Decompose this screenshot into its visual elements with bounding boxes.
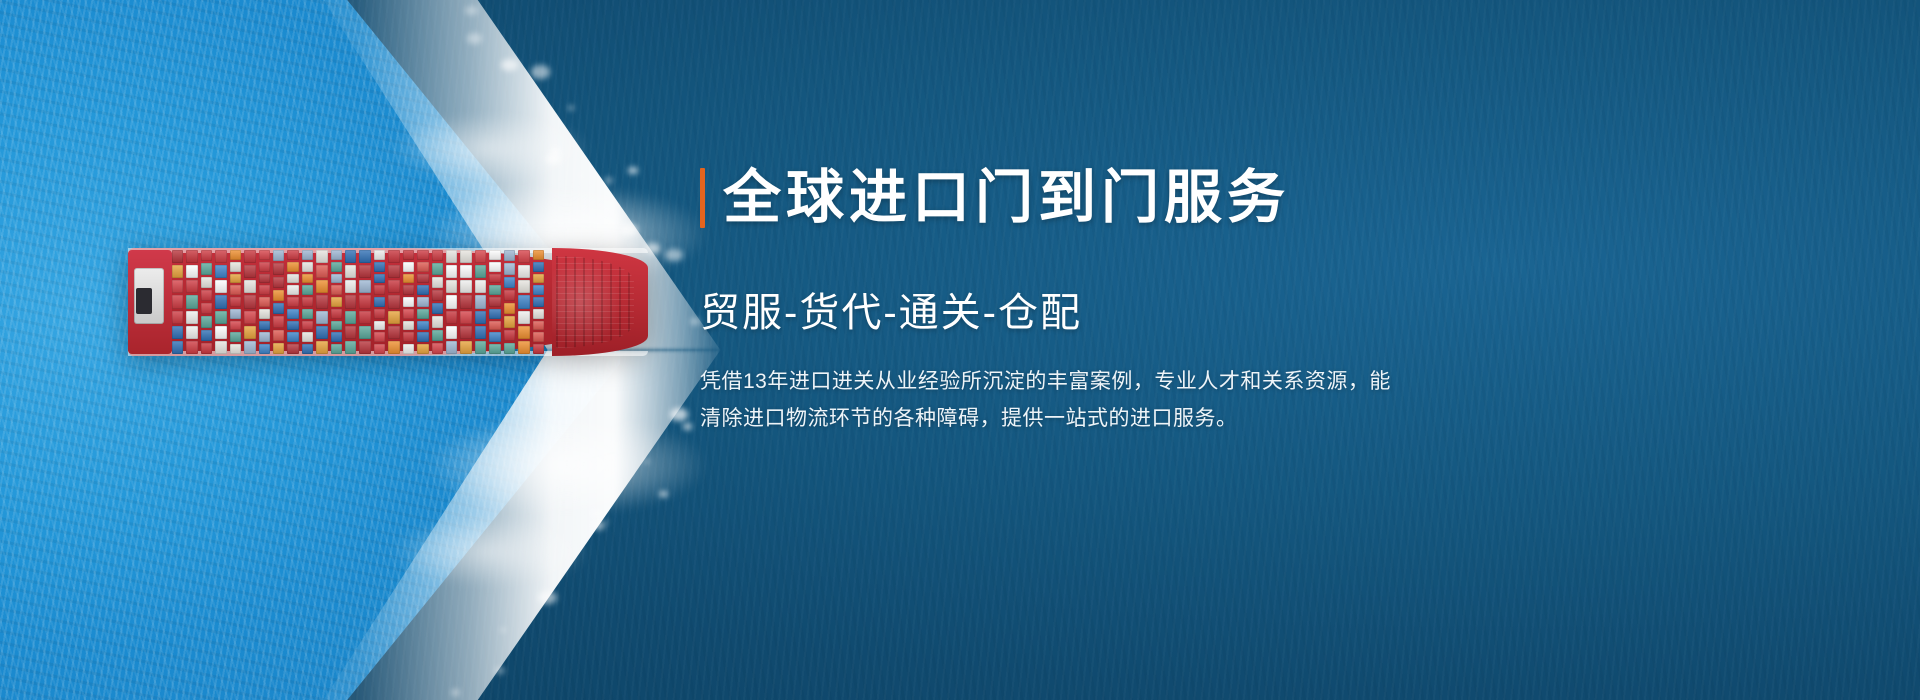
shipping-container — [316, 280, 327, 293]
shipping-container — [359, 326, 370, 339]
shipping-container — [489, 332, 500, 342]
accent-bar-icon — [700, 168, 705, 228]
banner-content: 全球进口门到门服务 贸服-货代-通关-仓配 凭借13年进口进关从业经验所沉淀的丰… — [700, 168, 1460, 438]
shipping-container — [259, 274, 270, 284]
shipping-container — [446, 341, 457, 354]
shipping-container — [259, 344, 270, 354]
shipping-container — [230, 250, 241, 260]
container-bay — [259, 250, 270, 354]
shipping-container — [460, 311, 471, 324]
shipping-container — [446, 326, 457, 339]
container-bay — [446, 250, 457, 354]
shipping-container — [186, 311, 197, 324]
shipping-container — [489, 309, 500, 319]
shipping-container — [374, 274, 385, 284]
container-bay — [201, 250, 212, 354]
shipping-container — [359, 265, 370, 278]
container-bay — [388, 250, 399, 354]
shipping-container — [417, 250, 428, 260]
shipping-container — [533, 297, 544, 307]
shipping-container — [230, 285, 241, 295]
shipping-container — [186, 250, 197, 263]
shipping-container — [302, 262, 313, 272]
shipping-container — [388, 250, 399, 263]
shipping-container — [374, 321, 385, 331]
shipping-container — [259, 321, 270, 331]
shipping-container — [186, 341, 197, 354]
shipping-container — [201, 263, 212, 274]
shipping-container — [316, 250, 327, 263]
shipping-container — [244, 326, 255, 339]
shipping-container — [273, 330, 284, 341]
shipping-container — [331, 332, 342, 342]
container-bay — [432, 250, 443, 354]
shipping-container — [432, 277, 443, 288]
shipping-container — [172, 341, 183, 354]
shipping-container — [316, 341, 327, 354]
shipping-container — [446, 295, 457, 308]
container-bay — [172, 250, 183, 354]
shipping-container — [259, 262, 270, 272]
shipping-container — [504, 250, 515, 261]
container-bay — [518, 250, 529, 354]
container-bay — [403, 250, 414, 354]
shipping-container — [504, 290, 515, 301]
shipping-container — [417, 344, 428, 354]
shipping-container — [230, 309, 241, 319]
shipping-container — [533, 285, 544, 295]
shipping-container — [201, 290, 212, 301]
shipping-container — [273, 343, 284, 354]
container-bay — [345, 250, 356, 354]
container-bay — [302, 250, 313, 354]
container-bay — [287, 250, 298, 354]
shipping-container — [201, 303, 212, 314]
shipping-container — [302, 344, 313, 354]
shipping-container — [432, 316, 443, 327]
shipping-container — [172, 265, 183, 278]
shipping-container — [259, 309, 270, 319]
ship-bow — [552, 248, 648, 356]
shipping-container — [403, 309, 414, 319]
container-bay — [186, 250, 197, 354]
shipping-container — [259, 297, 270, 307]
shipping-container — [359, 341, 370, 354]
shipping-container — [475, 326, 486, 339]
shipping-container — [432, 343, 443, 354]
shipping-container — [432, 303, 443, 314]
shipping-container — [230, 262, 241, 272]
shipping-container — [489, 321, 500, 331]
shipping-container — [230, 274, 241, 284]
shipping-container — [460, 250, 471, 263]
shipping-container — [186, 280, 197, 293]
shipping-container — [374, 297, 385, 307]
shipping-container — [302, 250, 313, 260]
shipping-container — [359, 311, 370, 324]
shipping-container — [417, 309, 428, 319]
shipping-container — [186, 326, 197, 339]
shipping-container — [489, 262, 500, 272]
shipping-container — [287, 344, 298, 354]
shipping-container — [331, 344, 342, 354]
shipping-container — [302, 297, 313, 307]
container-bay — [215, 250, 226, 354]
shipping-container — [201, 250, 212, 261]
shipping-container — [287, 332, 298, 342]
shipping-container — [172, 311, 183, 324]
container-bay — [273, 250, 284, 354]
container-ship — [128, 248, 648, 356]
shipping-container — [273, 250, 284, 261]
shipping-container — [460, 341, 471, 354]
shipping-container — [316, 265, 327, 278]
banner-subtitle: 贸服-货代-通关-仓配 — [700, 280, 1460, 338]
shipping-container — [331, 285, 342, 295]
shipping-container — [345, 280, 356, 293]
shipping-container — [316, 326, 327, 339]
container-bay — [230, 250, 241, 354]
container-bay — [489, 250, 500, 354]
container-stacks — [172, 250, 544, 354]
shipping-container — [475, 265, 486, 278]
shipping-container — [215, 280, 226, 293]
shipping-container — [244, 295, 255, 308]
shipping-container — [489, 250, 500, 260]
shipping-container — [331, 309, 342, 319]
shipping-container — [259, 332, 270, 342]
shipping-container — [374, 344, 385, 354]
shipping-container — [259, 250, 270, 260]
shipping-container — [172, 250, 183, 263]
shipping-container — [316, 295, 327, 308]
shipping-container — [374, 262, 385, 272]
shipping-container — [417, 274, 428, 284]
container-bay — [359, 250, 370, 354]
shipping-container — [244, 280, 255, 293]
container-bay — [533, 250, 544, 354]
shipping-container — [432, 290, 443, 301]
shipping-container — [287, 321, 298, 331]
shipping-container — [504, 330, 515, 341]
container-bay — [417, 250, 428, 354]
shipping-container — [345, 341, 356, 354]
shipping-container — [417, 285, 428, 295]
shipping-container — [201, 343, 212, 354]
shipping-container — [475, 250, 486, 263]
shipping-container — [302, 321, 313, 331]
shipping-container — [518, 326, 529, 339]
shipping-container — [374, 250, 385, 260]
headline-row: 全球进口门到门服务 — [700, 168, 1460, 228]
shipping-container — [504, 303, 515, 314]
shipping-container — [345, 265, 356, 278]
shipping-container — [518, 341, 529, 354]
shipping-container — [489, 344, 500, 354]
shipping-container — [388, 341, 399, 354]
shipping-container — [460, 265, 471, 278]
shipping-container — [172, 280, 183, 293]
shipping-container — [287, 285, 298, 295]
shipping-container — [345, 250, 356, 263]
shipping-container — [230, 297, 241, 307]
shipping-container — [388, 326, 399, 339]
shipping-container — [273, 303, 284, 314]
container-bay — [504, 250, 515, 354]
shipping-container — [331, 321, 342, 331]
shipping-container — [374, 309, 385, 319]
shipping-container — [504, 277, 515, 288]
shipping-container — [172, 295, 183, 308]
shipping-container — [475, 280, 486, 293]
shipping-container — [345, 311, 356, 324]
shipping-container — [417, 321, 428, 331]
shipping-container — [273, 277, 284, 288]
shipping-container — [331, 250, 342, 260]
shipping-container — [331, 274, 342, 284]
shipping-container — [345, 295, 356, 308]
shipping-container — [273, 263, 284, 274]
shipping-container — [460, 295, 471, 308]
shipping-container — [533, 309, 544, 319]
shipping-container — [230, 321, 241, 331]
shipping-container — [215, 326, 226, 339]
hero-banner: 全球进口门到门服务 贸服-货代-通关-仓配 凭借13年进口进关从业经验所沉淀的丰… — [0, 0, 1920, 700]
shipping-container — [417, 332, 428, 342]
container-bay — [316, 250, 327, 354]
shipping-container — [273, 290, 284, 301]
shipping-container — [489, 285, 500, 295]
shipping-container — [244, 341, 255, 354]
shipping-container — [287, 297, 298, 307]
shipping-container — [201, 330, 212, 341]
shipping-container — [518, 280, 529, 293]
shipping-container — [446, 311, 457, 324]
shipping-container — [533, 262, 544, 272]
shipping-container — [417, 262, 428, 272]
shipping-container — [201, 277, 212, 288]
shipping-container — [302, 285, 313, 295]
shipping-container — [230, 344, 241, 354]
shipping-container — [273, 316, 284, 327]
shipping-container — [460, 280, 471, 293]
container-bay — [374, 250, 385, 354]
shipping-container — [489, 274, 500, 284]
shipping-container — [518, 265, 529, 278]
shipping-container — [504, 263, 515, 274]
container-bay — [331, 250, 342, 354]
shipping-container — [316, 311, 327, 324]
shipping-container — [403, 297, 414, 307]
shipping-container — [302, 309, 313, 319]
shipping-container — [533, 274, 544, 284]
shipping-container — [359, 250, 370, 263]
shipping-container — [331, 297, 342, 307]
shipping-container — [518, 295, 529, 308]
shipping-container — [287, 250, 298, 260]
shipping-container — [504, 343, 515, 354]
shipping-container — [403, 344, 414, 354]
container-bay — [244, 250, 255, 354]
shipping-container — [215, 295, 226, 308]
shipping-container — [388, 295, 399, 308]
shipping-container — [287, 309, 298, 319]
shipping-container — [287, 274, 298, 284]
shipping-container — [215, 341, 226, 354]
shipping-container — [186, 295, 197, 308]
shipping-container — [446, 265, 457, 278]
shipping-container — [518, 311, 529, 324]
shipping-container — [215, 311, 226, 324]
shipping-container — [432, 263, 443, 274]
page-title: 全球进口门到门服务 — [723, 168, 1290, 228]
shipping-container — [460, 326, 471, 339]
shipping-container — [403, 274, 414, 284]
shipping-container — [446, 280, 457, 293]
shipping-container — [403, 250, 414, 260]
shipping-container — [403, 262, 414, 272]
shipping-container — [403, 285, 414, 295]
shipping-container — [345, 326, 356, 339]
shipping-container — [215, 250, 226, 263]
shipping-container — [374, 285, 385, 295]
shipping-container — [504, 316, 515, 327]
shipping-container — [388, 265, 399, 278]
shipping-container — [359, 295, 370, 308]
shipping-container — [302, 274, 313, 284]
shipping-container — [359, 280, 370, 293]
shipping-container — [374, 332, 385, 342]
shipping-container — [215, 265, 226, 278]
shipping-container — [475, 295, 486, 308]
shipping-container — [533, 250, 544, 260]
shipping-container — [388, 280, 399, 293]
shipping-container — [244, 265, 255, 278]
shipping-container — [230, 332, 241, 342]
container-bay — [475, 250, 486, 354]
shipping-container — [533, 332, 544, 342]
shipping-container — [489, 297, 500, 307]
banner-description: 凭借13年进口进关从业经验所沉淀的丰富案例，专业人才和关系资源，能清除进口物流环… — [700, 364, 1400, 438]
shipping-container — [475, 341, 486, 354]
shipping-container — [186, 265, 197, 278]
shipping-container — [475, 311, 486, 324]
shipping-container — [388, 311, 399, 324]
shipping-container — [518, 250, 529, 263]
shipping-container — [244, 250, 255, 263]
shipping-container — [287, 262, 298, 272]
ship-funnel — [136, 288, 152, 314]
shipping-container — [302, 332, 313, 342]
shipping-container — [533, 344, 544, 354]
shipping-container — [244, 311, 255, 324]
shipping-container — [432, 250, 443, 261]
shipping-container — [432, 330, 443, 341]
shipping-container — [403, 321, 414, 331]
shipping-container — [201, 316, 212, 327]
container-bay — [460, 250, 471, 354]
shipping-container — [533, 321, 544, 331]
shipping-container — [446, 250, 457, 263]
shipping-container — [172, 326, 183, 339]
shipping-container — [259, 285, 270, 295]
shipping-container — [331, 262, 342, 272]
shipping-container — [417, 297, 428, 307]
shipping-container — [403, 332, 414, 342]
